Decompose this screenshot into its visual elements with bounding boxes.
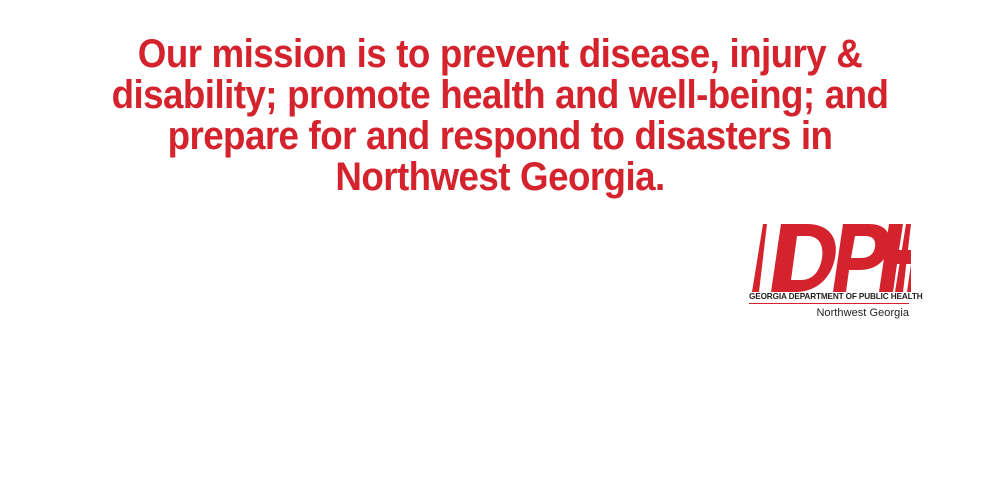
- mission-statement: Our mission is to prevent disease, injur…: [82, 34, 919, 198]
- logo-region-name: Northwest Georgia: [749, 307, 909, 320]
- slide-canvas: Our mission is to prevent disease, injur…: [0, 0, 1000, 494]
- logo-department-line: GEORGIA DEPARTMENT OF PUBLIC HEALTH: [749, 291, 909, 304]
- dph-monogram-icon: [745, 224, 911, 292]
- logo-divider-rule: [749, 303, 909, 304]
- dph-logo: GEORGIA DEPARTMENT OF PUBLIC HEALTH Nort…: [745, 224, 917, 320]
- logo-department-name: GEORGIA DEPARTMENT OF PUBLIC HEALTH: [749, 291, 907, 301]
